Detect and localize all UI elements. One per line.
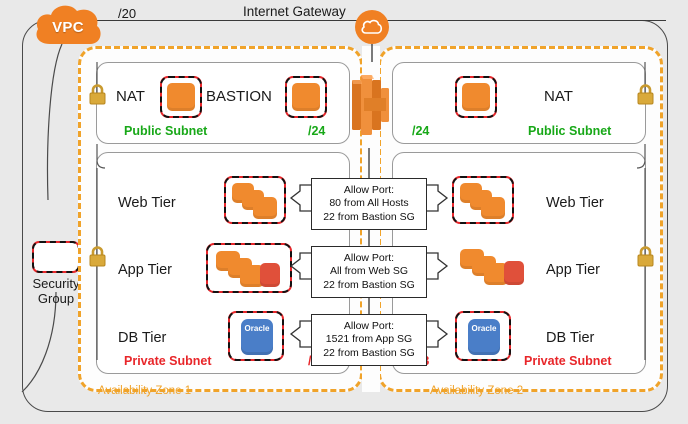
rule-db-line2: 1521 from App SG (326, 333, 412, 347)
rule-web-line2: 80 from All Hosts (329, 197, 408, 211)
ec2-instance-icon-red (260, 263, 280, 287)
ec2-instance-icon (292, 83, 320, 111)
security-rule-app-tier: Allow Port: All from Web SG 22 from Bast… (311, 246, 427, 298)
internet-gateway-label: Internet Gateway (243, 4, 346, 19)
public-subnet-az2-name: Public Subnet (528, 124, 611, 138)
private-subnet-az1-name: Private Subnet (124, 354, 212, 368)
app-tier-az2-label: App Tier (546, 262, 600, 278)
web-tier-az2-label: Web Tier (546, 195, 604, 211)
ec2-instance-icon (167, 83, 195, 111)
ec2-instance-icon (462, 83, 490, 111)
padlock-icon (636, 246, 655, 268)
rule-app-line2: All from Web SG (330, 265, 408, 279)
security-rule-db-tier: Allow Port: 1521 from App SG 22 from Bas… (311, 314, 427, 366)
oracle-database-icon: Oracle (241, 319, 273, 355)
ec2-instance-icon-red (504, 261, 524, 285)
security-group-legend-swatch (32, 241, 80, 273)
web-tier-az2-security-group (452, 176, 514, 224)
db-tier-az1-security-group: Oracle (228, 311, 284, 361)
aws-vpc-router-icon (348, 62, 398, 148)
nat-az1-label: NAT (116, 88, 145, 105)
db-tier-az1-label: DB Tier (118, 330, 166, 346)
padlock-icon (88, 84, 107, 106)
app-tier-az2-instances (452, 245, 538, 293)
web-tier-az1-label: Web Tier (118, 195, 176, 211)
ec2-instance-icon (481, 197, 505, 219)
public-subnet-az1-name: Public Subnet (124, 124, 207, 138)
rule-web-title: Allow Port: (344, 184, 394, 198)
availability-zone-1-label: Availability Zone 1 (98, 385, 191, 397)
db-tier-az2-label: DB Tier (546, 330, 594, 346)
db-tier-az2-security-group: Oracle (455, 311, 511, 361)
bastion-az1-label: BASTION (206, 88, 272, 105)
app-tier-az1-security-group (206, 243, 292, 293)
ec2-instance-icon (253, 197, 277, 219)
nat-az1-security-group (160, 76, 202, 118)
rule-app-line3: 22 from Bastion SG (323, 279, 415, 293)
padlock-icon (636, 84, 655, 106)
vpc-badge-text: VPC (32, 2, 104, 48)
rule-db-line3: 22 from Bastion SG (323, 347, 415, 361)
padlock-icon (88, 246, 107, 268)
nat-az2-label: NAT (544, 88, 573, 105)
security-rule-web-tier: Allow Port: 80 from All Hosts 22 from Ba… (311, 178, 427, 230)
bastion-az1-security-group (285, 76, 327, 118)
private-subnet-az2-name: Private Subnet (524, 354, 612, 368)
oracle-label: Oracle (472, 324, 497, 333)
rule-web-line3: 22 from Bastion SG (323, 211, 415, 225)
public-subnet-az1-cidr: /24 (308, 124, 325, 138)
rule-db-title: Allow Port: (344, 320, 394, 334)
oracle-database-icon: Oracle (468, 319, 500, 355)
vpc-architecture-diagram: VPC /20 Internet Gateway Security Group … (0, 0, 688, 424)
vpc-cidr-label: /20 (118, 6, 136, 21)
vpc-cloud-icon: VPC (32, 2, 104, 48)
rule-app-title: Allow Port: (344, 252, 394, 266)
oracle-label: Oracle (245, 324, 270, 333)
public-subnet-az2-cidr: /24 (412, 124, 429, 138)
availability-zone-2-label: Availability Zone 2 (430, 385, 523, 397)
internet-gateway-cloud-icon (355, 10, 389, 44)
nat-az2-security-group (455, 76, 497, 118)
web-tier-az1-security-group (224, 176, 286, 224)
app-tier-az1-label: App Tier (118, 262, 172, 278)
